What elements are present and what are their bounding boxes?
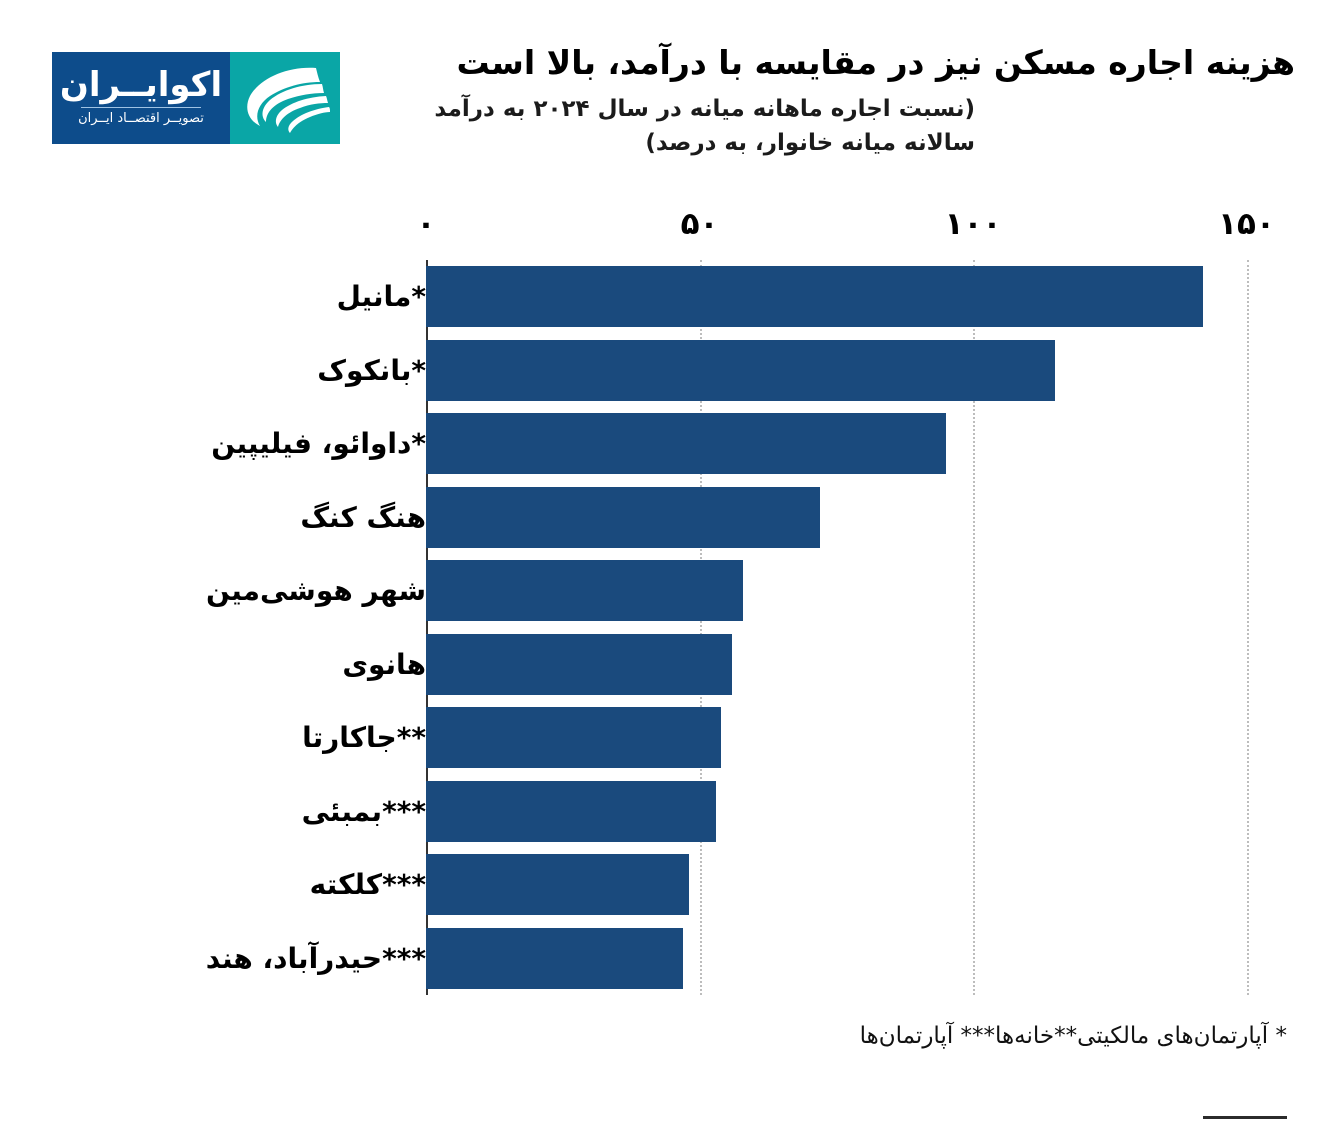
eco-iran-logo: اکوایــران تصویــر اقتصــاد ایــران: [52, 52, 340, 144]
bar-row: *مانیل: [0, 260, 1321, 334]
bar-category-label-text: **جاکارتا: [288, 721, 426, 754]
logo-mark-panel: [230, 52, 340, 144]
chart-subtitle: (نسبت اجاره ماهانه میانه در سال ۲۰۲۴ به …: [415, 92, 975, 161]
bar-row: هانوی: [0, 628, 1321, 702]
bar-row: *بانکوک: [0, 334, 1321, 408]
bar: [426, 781, 716, 842]
bar-category-label-text: هنگ کنگ: [286, 501, 426, 534]
bar-row: هنگ کنگ: [0, 481, 1321, 555]
bar-category-label-text: *مانیل: [323, 280, 426, 313]
bar-chart: ۰۵۰۱۰۰۱۵۰ *مانیل*بانکوک*داوائو، فیلیپینه…: [0, 200, 1321, 1010]
bar-row: ***حیدرآباد، هند: [0, 922, 1321, 996]
bar-category-label-text: هانوی: [328, 648, 426, 681]
chart-bars: *مانیل*بانکوک*داوائو، فیلیپینهنگ کنگشهر …: [0, 260, 1321, 995]
bar: [426, 560, 743, 621]
bar-category-label-text: ***حیدرآباد، هند: [192, 942, 426, 975]
title-block: هزینه اجاره مسکن نیز در مقایسه با درآمد،…: [415, 42, 1295, 161]
bar: [426, 928, 683, 989]
logo-wordmark-panel: اکوایــران تصویــر اقتصــاد ایــران: [52, 52, 230, 144]
chart-title: هزینه اجاره مسکن نیز در مقایسه با درآمد،…: [415, 42, 1295, 84]
bar-category-label-text: *بانکوک: [303, 354, 426, 387]
bar-row: ***کلکته: [0, 848, 1321, 922]
eco-iran-swoosh-icon: [238, 62, 332, 134]
bar-category-label-text: ***کلکته: [296, 868, 426, 901]
bar: [426, 340, 1055, 401]
x-axis-tick-50: ۵۰: [681, 206, 719, 242]
x-axis-tick-0: ۰: [417, 206, 436, 242]
bottom-rule: [1203, 1116, 1287, 1119]
bar-row: ***بمبئی: [0, 775, 1321, 849]
footnote: * آپارتمان‌های مالکیتی**خانه‌ها*** آپارت…: [0, 1022, 1321, 1052]
bar: [426, 487, 820, 548]
bar: [426, 707, 721, 768]
bar-category-label-text: ***بمبئی: [288, 795, 426, 828]
x-axis-tick-150: ۱۵۰: [1218, 206, 1275, 242]
header: اکوایــران تصویــر اقتصــاد ایــران هزین…: [0, 0, 1321, 200]
bar-category-label-text: *داوائو، فیلیپین: [197, 427, 426, 460]
logo-divider: [81, 107, 201, 108]
bar: [426, 266, 1203, 327]
logo-tagline: تصویــر اقتصــاد ایــران: [78, 112, 204, 125]
logo-wordmark: اکوایــران: [60, 68, 222, 102]
bar: [426, 413, 946, 474]
x-axis-tick-labels: ۰۵۰۱۰۰۱۵۰: [0, 200, 1321, 260]
bar: [426, 854, 689, 915]
bar: [426, 634, 732, 695]
x-axis-tick-100: ۱۰۰: [945, 206, 1002, 242]
bar-row: شهر هوشی‌مین: [0, 554, 1321, 628]
bar-category-label-text: شهر هوشی‌مین: [192, 574, 426, 607]
footnote-text: * آپارتمان‌های مالکیتی**خانه‌ها*** آپارت…: [860, 1022, 1287, 1052]
bar-row: *داوائو، فیلیپین: [0, 407, 1321, 481]
bar-row: **جاکارتا: [0, 701, 1321, 775]
